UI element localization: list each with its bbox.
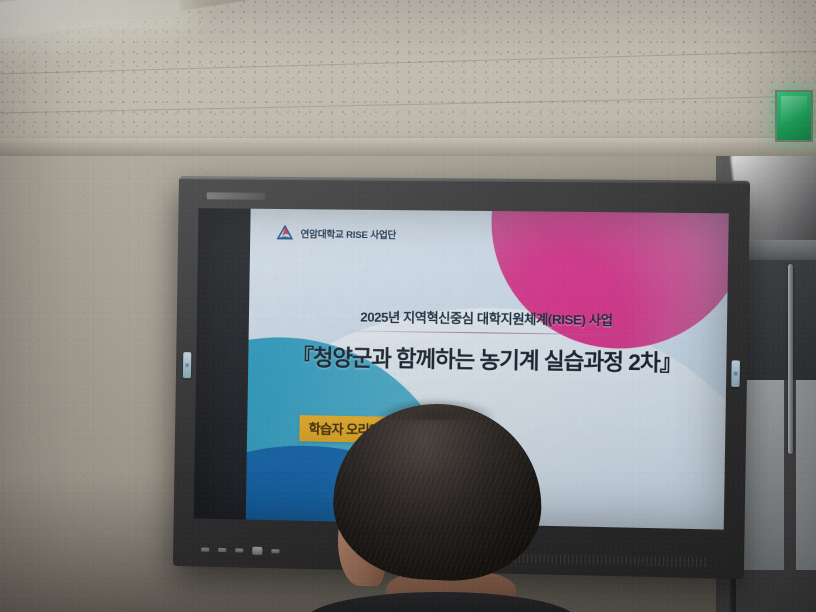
hair bbox=[330, 399, 547, 586]
display-control-buttons[interactable] bbox=[201, 546, 279, 556]
menu-button[interactable] bbox=[201, 548, 209, 552]
photo-scene: 연암대학교 RISE 사업단 2025년 지역혁신중심 대학지원체계(RISE)… bbox=[0, 0, 816, 612]
emergency-exit-sign bbox=[775, 90, 813, 142]
home-button[interactable] bbox=[271, 549, 279, 553]
screen-letterbox-left bbox=[194, 208, 251, 519]
door-lower-panel bbox=[740, 380, 784, 570]
door-handle[interactable] bbox=[788, 264, 793, 454]
ceiling bbox=[0, 0, 816, 150]
yeonam-university-rise-logo bbox=[276, 225, 293, 241]
stylus-dot-icon bbox=[185, 363, 189, 367]
door-lower-panel bbox=[796, 380, 816, 570]
exit-sign-face bbox=[781, 96, 807, 136]
hair-strand-texture bbox=[330, 399, 547, 586]
input-button[interactable] bbox=[218, 548, 226, 552]
slide-divider bbox=[348, 330, 624, 335]
slide-header: 연암대학교 RISE 사업단 bbox=[276, 225, 396, 242]
stylus-holder-left[interactable] bbox=[183, 352, 191, 378]
audience-member bbox=[316, 404, 560, 612]
stylus-holder-right[interactable] bbox=[731, 360, 740, 387]
hair-wisps bbox=[376, 398, 496, 420]
stylus-dot-icon bbox=[733, 372, 737, 376]
shoulders bbox=[306, 592, 576, 612]
slide-title-block: 2025년 지역혁신중심 대학지원체계(RISE) 사업 『청양군과 함께하는 … bbox=[248, 305, 727, 379]
power-button[interactable] bbox=[252, 547, 262, 555]
volume-button[interactable] bbox=[235, 548, 243, 552]
slide-org-label: 연암대학교 RISE 사업단 bbox=[300, 226, 396, 241]
display-brand-plate bbox=[207, 192, 265, 200]
